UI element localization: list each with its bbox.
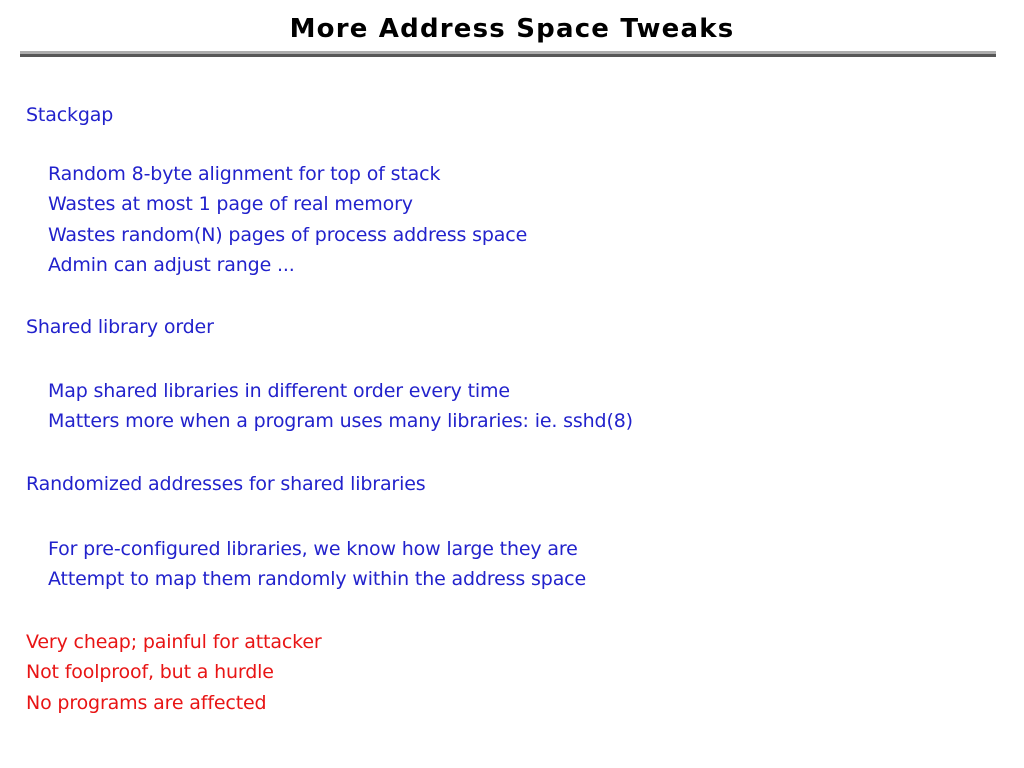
list-item: Wastes at most 1 page of real memory [48, 192, 413, 216]
section-heading-shared-library-order: Shared library order [26, 315, 214, 339]
list-item: Map shared libraries in different order … [48, 379, 510, 403]
list-item: Admin can adjust range ... [48, 253, 295, 277]
slide-body: Stackgap Random 8-byte alignment for top… [0, 0, 1024, 768]
section-heading-stackgap: Stackgap [26, 103, 113, 127]
list-item: Random 8-byte alignment for top of stack [48, 162, 440, 186]
list-item: Matters more when a program uses many li… [48, 409, 633, 433]
section-heading-randomized-addresses: Randomized addresses for shared librarie… [26, 472, 426, 496]
summary-item: Not foolproof, but a hurdle [26, 660, 274, 684]
list-item: Wastes random(N) pages of process addres… [48, 223, 527, 247]
slide: More Address Space Tweaks Stackgap Rando… [0, 0, 1024, 768]
summary-item: No programs are affected [26, 691, 266, 715]
list-item: For pre-configured libraries, we know ho… [48, 537, 578, 561]
summary-item: Very cheap; painful for attacker [26, 630, 322, 654]
list-item: Attempt to map them randomly within the … [48, 567, 586, 591]
